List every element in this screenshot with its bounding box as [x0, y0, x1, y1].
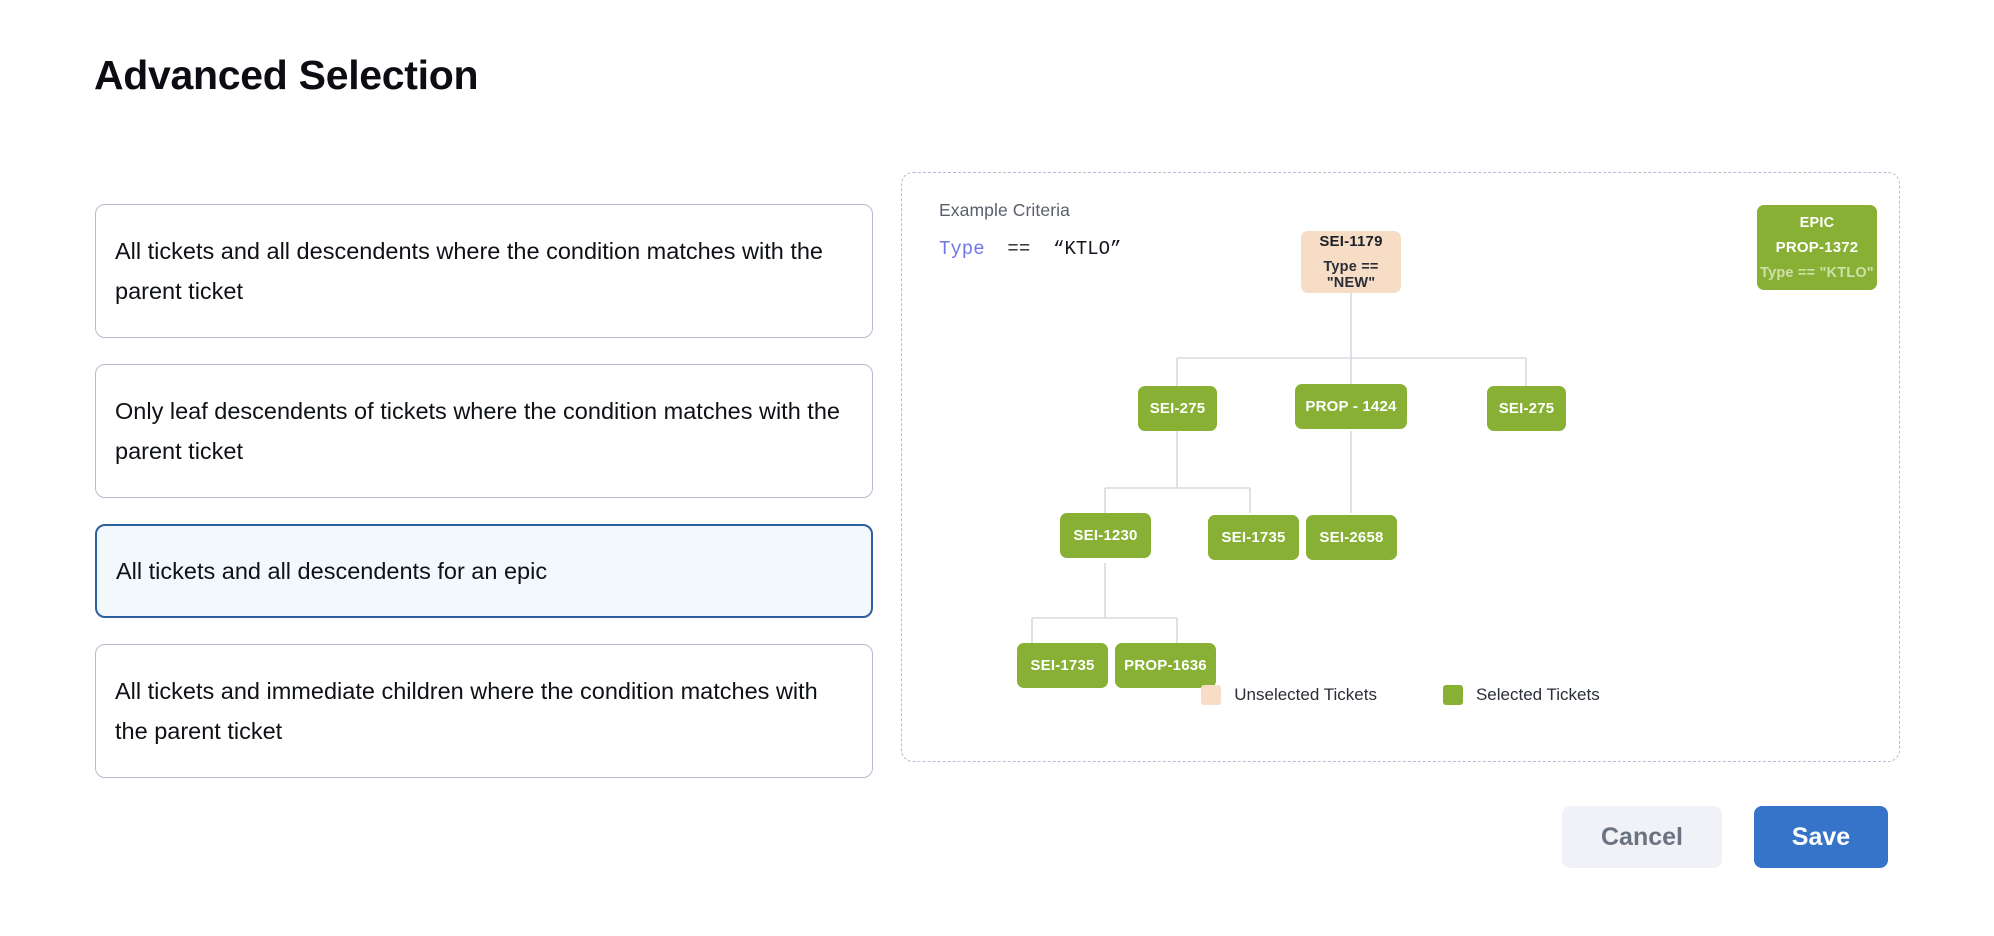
example-diagram-panel: Example Criteria Type == “KTLO”	[901, 172, 1900, 762]
legend-swatch-unselected-icon	[1201, 685, 1221, 705]
tree-node-label: PROP-1636	[1124, 657, 1207, 674]
legend-label: Selected Tickets	[1476, 685, 1600, 705]
legend-item-selected: Selected Tickets	[1443, 685, 1600, 705]
tree-node-label: SEI-1735	[1221, 529, 1285, 546]
legend-label: Unselected Tickets	[1234, 685, 1377, 705]
tree-node-root[interactable]: SEI-1179 Type == "NEW"	[1301, 231, 1401, 293]
option-card-immediate-children-condition[interactable]: All tickets and immediate children where…	[95, 644, 873, 778]
tree-node-sei-1735-mid[interactable]: SEI-1735	[1208, 515, 1299, 560]
tree-node-sei-275-left[interactable]: SEI-275	[1138, 386, 1217, 431]
tree-node-label: SEI-1179	[1319, 233, 1382, 250]
option-card-leaf-descendents-condition[interactable]: Only leaf descendents of tickets where t…	[95, 364, 873, 498]
tree-node-condition: Type == "KTLO"	[1760, 265, 1874, 281]
legend-swatch-selected-icon	[1443, 685, 1463, 705]
tree-node-prop-1636[interactable]: PROP-1636	[1115, 643, 1216, 688]
tree-node-prop-1424[interactable]: PROP - 1424	[1295, 384, 1407, 429]
tree-node-sei-1230[interactable]: SEI-1230	[1060, 513, 1151, 558]
tree-node-label: PROP-1372	[1776, 239, 1859, 256]
tree-node-label: PROP - 1424	[1305, 398, 1396, 415]
option-card-all-descendents-condition[interactable]: All tickets and all descendents where th…	[95, 204, 873, 338]
tree-node-epic[interactable]: EPIC PROP-1372 Type == "KTLO"	[1757, 205, 1877, 290]
tree-node-label: SEI-2658	[1319, 529, 1383, 546]
cancel-button[interactable]: Cancel	[1562, 806, 1722, 868]
option-label: All tickets and all descendents where th…	[115, 238, 823, 304]
tree-node-label: SEI-1735	[1030, 657, 1094, 674]
tree-node-kind: EPIC	[1800, 215, 1835, 231]
tree-node-label: SEI-275	[1150, 400, 1206, 417]
page-title: Advanced Selection	[94, 52, 478, 99]
tree-node-sei-2658[interactable]: SEI-2658	[1306, 515, 1397, 560]
tree-node-condition: Type == "NEW"	[1301, 259, 1401, 291]
option-label: All tickets and all descendents for an e…	[116, 558, 547, 584]
tree-node-sei-1735-bottom[interactable]: SEI-1735	[1017, 643, 1108, 688]
legend-item-unselected: Unselected Tickets	[1201, 685, 1377, 705]
option-label: All tickets and immediate children where…	[115, 678, 818, 744]
tree-node-sei-275-right[interactable]: SEI-275	[1487, 386, 1566, 431]
option-label: Only leaf descendents of tickets where t…	[115, 398, 840, 464]
save-button[interactable]: Save	[1754, 806, 1888, 868]
selection-options-list: All tickets and all descendents where th…	[95, 204, 873, 804]
tree-node-label: SEI-275	[1499, 400, 1555, 417]
diagram-legend: Unselected Tickets Selected Tickets	[902, 685, 1899, 705]
footer-actions: Cancel Save	[1562, 806, 1888, 868]
tree-node-label: SEI-1230	[1073, 527, 1137, 544]
option-card-all-descendents-epic[interactable]: All tickets and all descendents for an e…	[95, 524, 873, 618]
